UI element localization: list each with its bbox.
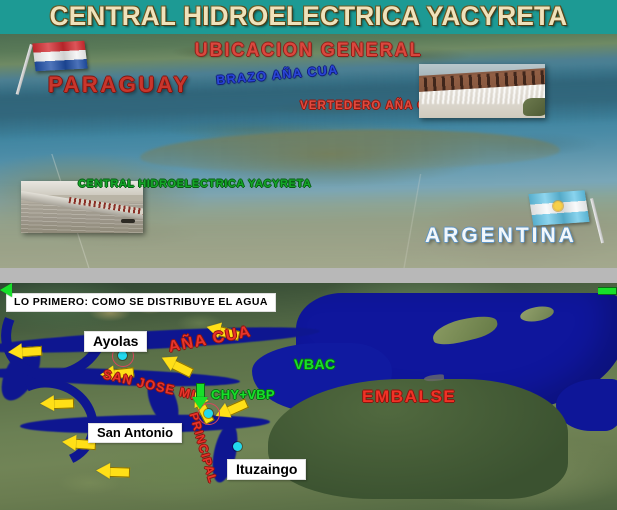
arrow-head [7, 343, 22, 360]
city-label-san-antonio: San Antonio [88, 423, 182, 443]
discharge-label-chy-vbp: CHY+VBP [211, 387, 275, 402]
page-title: CENTRAL HIDROELECTRICA YACYRETA [9, 1, 607, 32]
country-label-argentina: ARGENTINA [425, 224, 577, 248]
flow-arrow-yellow [96, 462, 131, 479]
top-satellite-map: UBICACION GENERAL PARAGUAY BRAZO AÑA CUA… [0, 34, 617, 268]
flow-arrow-yellow [7, 342, 42, 360]
arrow-head [192, 397, 208, 409]
arrow-shaft [108, 467, 130, 478]
discharge-arrow-chy-vbp-icon [192, 383, 208, 409]
arrow-shaft [20, 346, 43, 358]
arrow-head [40, 395, 55, 411]
flow-arrow-yellow [40, 394, 75, 411]
photo-boat [121, 219, 135, 223]
discharge-label-vbac: VBAC [294, 356, 336, 372]
panel-divider [0, 268, 617, 283]
inset-photo-spillway [419, 64, 545, 118]
header-band: CENTRAL HIDROELECTRICA YACYRETA [0, 0, 617, 34]
site-marker-powerhouse [204, 409, 213, 418]
photo-river-bank [523, 98, 545, 116]
flag-cloth [32, 41, 87, 72]
area-label-embalse: EMBALSE [362, 387, 456, 407]
structure-label-central-hidroelectrica: CENTRAL HIDROELECTRICA YACYRETA [78, 178, 312, 190]
country-label-paraguay: PARAGUAY [48, 72, 190, 98]
site-marker-ayolas [118, 351, 127, 360]
arrow-shaft [52, 398, 74, 409]
bottom-satellite-map: LO PRIMERO: COMO SE DISTRIBUYE EL AGUA A… [0, 283, 617, 510]
arrow-shaft [598, 287, 617, 295]
banner-lo-primero: LO PRIMERO: COMO SE DISTRIBUYE EL AGUA [6, 293, 276, 312]
arrow-head [96, 462, 111, 478]
section-title-ubicacion-general: UBICACION GENERAL [15, 40, 601, 62]
city-label-ayolas: Ayolas [84, 331, 147, 352]
slide-root: CENTRAL HIDROELECTRICA YACYRETA UBICACIO… [0, 0, 617, 510]
arrow-head [0, 283, 12, 297]
arrow-head [61, 434, 76, 451]
site-marker-ituzaingo [233, 442, 242, 451]
city-label-ituzaingo: Ituzaingo [227, 459, 306, 480]
